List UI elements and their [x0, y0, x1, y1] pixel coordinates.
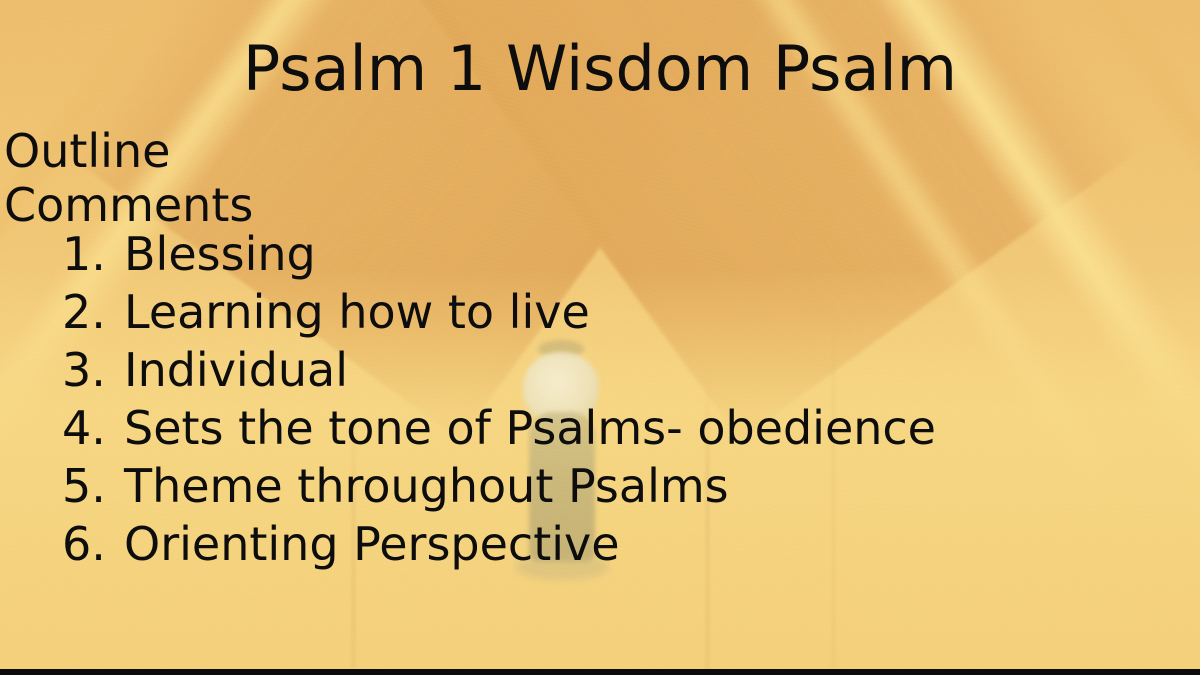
bottom-black-bar: [0, 669, 1200, 675]
list-item-number: 5.: [62, 463, 124, 509]
list-item: 2. Learning how to live: [62, 289, 936, 347]
list-item: 1. Blessing: [62, 231, 936, 289]
presentation-slide: Psalm 1 Wisdom Psalm Outline Comments 1.…: [0, 0, 1200, 675]
heading-outline: Outline: [4, 128, 170, 174]
list-item: 5. Theme throughout Psalms: [62, 463, 936, 521]
list-item-number: 4.: [62, 405, 124, 451]
list-item-number: 6.: [62, 521, 124, 567]
list-item: 4. Sets the tone of Psalms- obedience: [62, 405, 936, 463]
list-item-number: 3.: [62, 347, 124, 393]
list-item: 3. Individual: [62, 347, 936, 405]
list-item-text: Blessing: [124, 231, 316, 277]
slide-title: Psalm 1 Wisdom Psalm: [0, 38, 1200, 100]
list-item-text: Orienting Perspective: [124, 521, 620, 567]
slide-content: Psalm 1 Wisdom Psalm Outline Comments 1.…: [0, 0, 1200, 675]
heading-comments: Comments: [4, 182, 253, 228]
list-item: 6. Orienting Perspective: [62, 521, 936, 579]
list-item-number: 2.: [62, 289, 124, 335]
list-item-text: Individual: [124, 347, 348, 393]
outline-list: 1. Blessing 2. Learning how to live 3. I…: [62, 231, 936, 579]
list-item-text: Sets the tone of Psalms- obedience: [124, 405, 936, 451]
list-item-text: Learning how to live: [124, 289, 590, 335]
list-item-text: Theme throughout Psalms: [124, 463, 729, 509]
list-item-number: 1.: [62, 231, 124, 277]
